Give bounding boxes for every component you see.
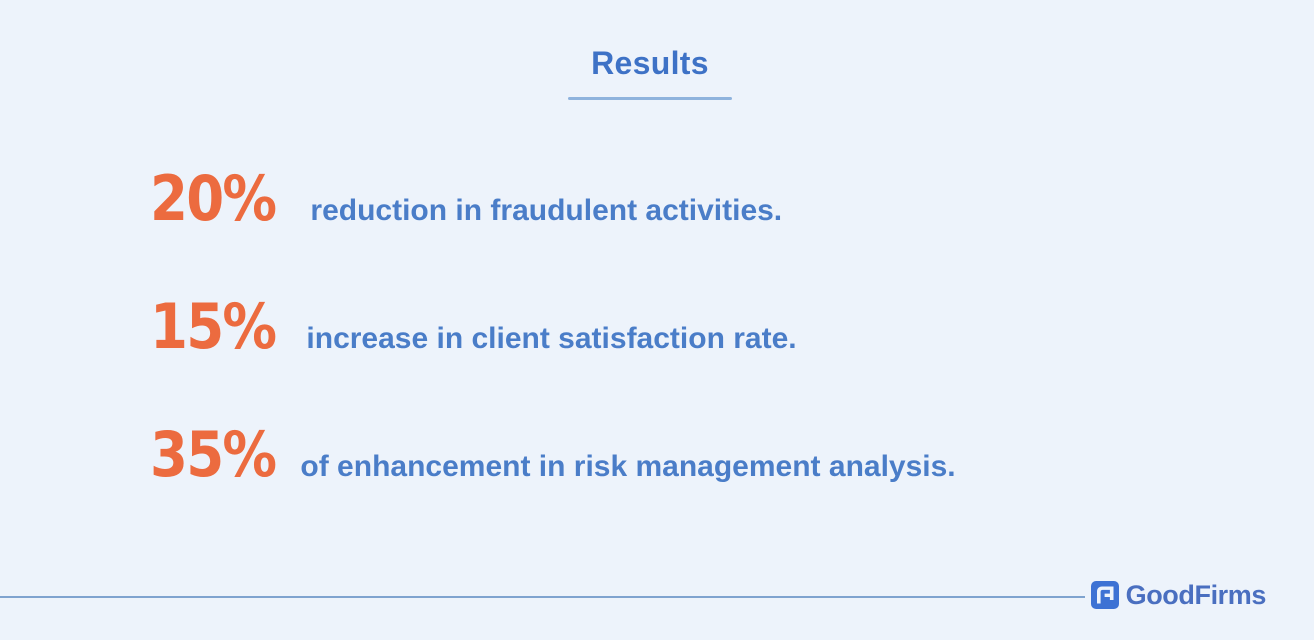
stat-label: increase in client satisfaction rate. <box>306 324 796 354</box>
stat-label: of enhancement in risk management analys… <box>300 452 955 482</box>
title-underline-divider <box>568 97 732 100</box>
list-item: 35% of enhancement in risk management an… <box>150 424 1250 514</box>
stat-value: 15% <box>150 296 275 358</box>
list-item: 15% increase in client satisfaction rate… <box>150 296 1250 386</box>
heading-block: Results <box>0 46 1300 100</box>
stat-value: 20% <box>150 168 275 230</box>
results-stat-list: 20% reduction in fraudulent activities. … <box>150 168 1250 514</box>
goodfirms-brand-logo: GoodFirms <box>1091 581 1266 609</box>
results-slide: Results 20% reduction in fraudulent acti… <box>0 0 1314 640</box>
footer-divider <box>0 596 1085 598</box>
stat-value: 35% <box>150 424 275 486</box>
page-title: Results <box>0 46 1300 81</box>
list-item: 20% reduction in fraudulent activities. <box>150 168 1250 258</box>
goodfirms-logo-icon <box>1091 581 1119 609</box>
stat-label: reduction in fraudulent activities. <box>310 196 782 226</box>
goodfirms-wordmark: GoodFirms <box>1126 582 1266 609</box>
